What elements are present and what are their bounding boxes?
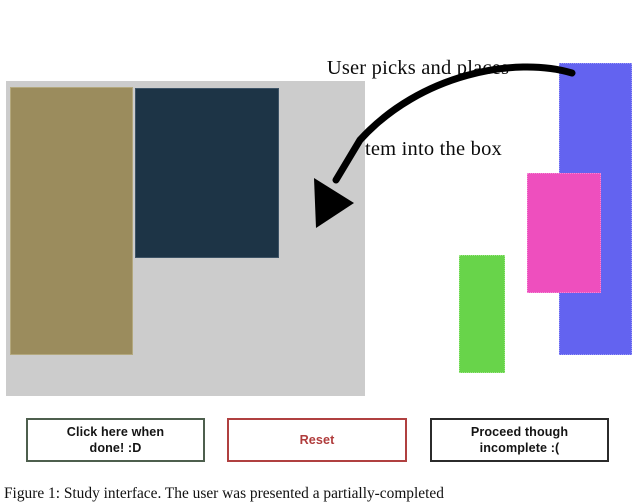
placed-item-khaki[interactable] <box>10 87 133 355</box>
figure-stage: User picks and places an item into the b… <box>0 0 640 502</box>
proceed-incomplete-button[interactable]: Proceed though incomplete :( <box>430 418 609 462</box>
done-button[interactable]: Click here when done! :D <box>26 418 205 462</box>
placed-item-navy[interactable] <box>135 88 279 258</box>
tray-item-pink[interactable] <box>527 173 601 293</box>
controls-row: Click here when done! :D Reset Proceed t… <box>0 418 640 466</box>
tray-item-green[interactable] <box>459 255 505 373</box>
reset-button[interactable]: Reset <box>227 418 407 462</box>
annotation-line-1: User picks and places <box>268 55 568 82</box>
figure-caption: Figure 1: Study interface. The user was … <box>4 484 638 502</box>
